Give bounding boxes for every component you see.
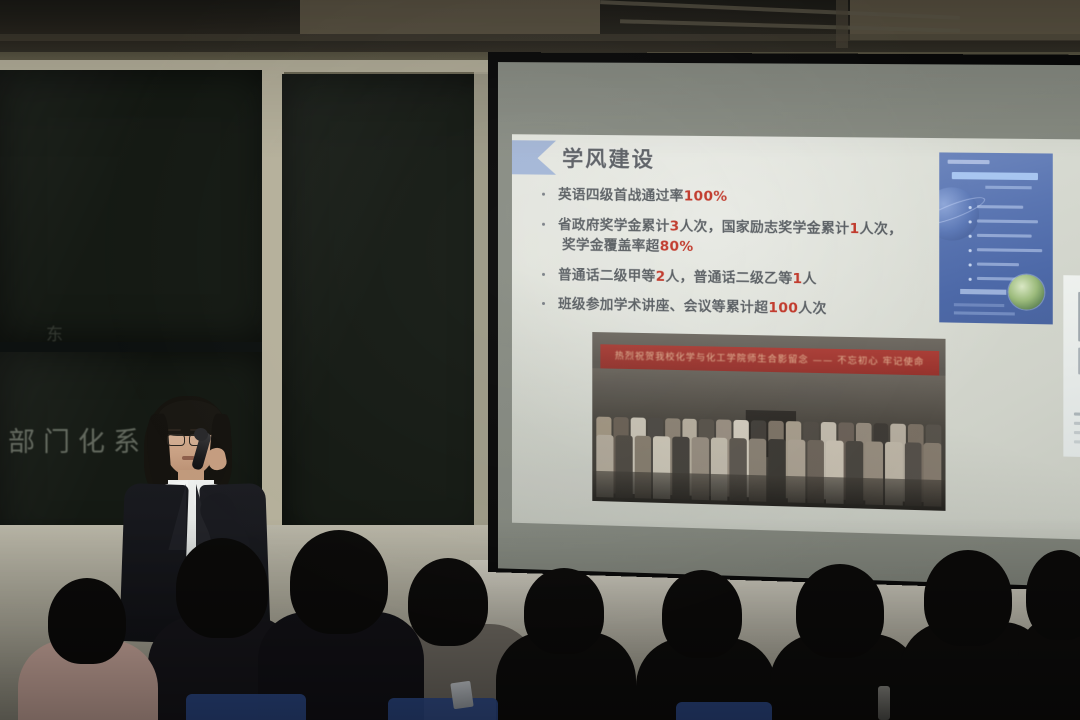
audience-member-head (662, 570, 742, 658)
poster-title-band (952, 172, 1038, 180)
blackboard-panel-right (282, 74, 494, 548)
glasses-icon (167, 434, 185, 446)
bullet-item: 省政府奖学金累计3人次，国家励志奖学金累计1人次， 奖学金覆盖率超80% (536, 214, 904, 261)
bullet-tail-2: 人次， (860, 220, 903, 237)
bullet-tail: 人，普通话二级乙等 (665, 268, 792, 286)
bullet-item: 班级参加学术讲座、会议等累计超100人次 (536, 294, 904, 321)
audience-member-head (1026, 550, 1080, 640)
ceiling-panel (300, 0, 600, 34)
bullet-text: 省政府奖学金累计 (558, 216, 670, 234)
bullet-highlight: 100% (684, 188, 728, 205)
bullet-text: 班级参加学术讲座、会议等累计超 (558, 296, 768, 316)
slide-bullet-list: 英语四级首战通过率100% 省政府奖学金累计3人次，国家励志奖学金累计1人次， … (536, 185, 904, 331)
bullet-highlight: 2 (656, 268, 666, 284)
smartphone[interactable] (450, 681, 473, 710)
audience-member-head (290, 530, 388, 634)
bullet-text: 普通话二级甲等 (558, 267, 656, 285)
photo-backdrop (592, 368, 945, 511)
bullet-tail: 人次，国家励志奖学金累计 (680, 218, 850, 237)
slide-group-photo-image: 热烈祝贺我校化学与化工学院师生合影留念 —— 不忘初心 牢记使命 (592, 332, 945, 511)
audience-member-head (796, 564, 884, 658)
projection-screen: 学风建设 英语四级首战通过率100% 省政府奖学金累计3人次，国家励志奖学金累计… (488, 52, 1080, 592)
slide-poster-ink-image (1063, 275, 1080, 458)
bullet-cont-text: 奖学金覆盖率超 (562, 237, 660, 255)
bullet-continuation: 奖学金覆盖率超80% (558, 235, 904, 261)
audience-member-head (48, 578, 126, 664)
poster-globe-icon (1008, 274, 1044, 310)
bullet-item: 普通话二级甲等2人，普通话二级乙等1人 (536, 264, 904, 291)
water-bottle[interactable] (878, 686, 890, 720)
ceiling-beam (0, 34, 1080, 41)
slide-corner-flag-icon (512, 140, 556, 175)
bullet-item: 英语四级首战通过率100% (536, 185, 904, 210)
audience-member-head (924, 550, 1012, 646)
chair-back[interactable] (186, 694, 306, 720)
bullet-tail: 人次 (798, 300, 826, 317)
blackboard-panel-left (0, 70, 268, 342)
bullet-highlight-2: 1 (849, 220, 859, 236)
slide-poster-blue-image (939, 152, 1053, 324)
audience-group (0, 520, 1080, 720)
blackboard-glare (282, 74, 494, 548)
bullet-highlight: 3 (670, 218, 680, 234)
poster-brand-mark (948, 160, 990, 165)
bullet-highlight: 100 (768, 300, 798, 317)
slide-heading: 学风建设 (562, 143, 655, 174)
audience-member-head (408, 558, 488, 646)
poster-footer-band (960, 289, 1006, 295)
audience-member-head (176, 538, 268, 638)
chair-back[interactable] (676, 702, 772, 720)
chalk-note-secondary: 东 (46, 320, 71, 345)
bullet-text: 英语四级首战通过率 (558, 187, 684, 205)
bullet-tail-2: 人 (802, 271, 816, 288)
screen-surface: 学风建设 英语四级首战通过率100% 省政府奖学金累计3人次，国家励志奖学金累计… (498, 62, 1080, 587)
photo-banner-text: 热烈祝贺我校化学与化工学院师生合影留念 —— 不忘初心 牢记使命 (600, 348, 939, 368)
classroom-photo-scene: 东 部门化系统 学风建设 英语四级首战通过率100% 省政府奖学金累计3人次，国… (0, 0, 1080, 720)
ceiling-post (836, 0, 848, 48)
bullet-highlight-2: 1 (792, 270, 802, 286)
poster-subtitle-band (985, 186, 1031, 190)
bullet-cont-highlight: 80% (660, 239, 694, 256)
chair-back[interactable] (388, 698, 498, 720)
blackboard-glare (0, 70, 268, 342)
slide-content: 学风建设 英语四级首战通过率100% 省政府奖学金累计3人次，国家励志奖学金累计… (512, 134, 1080, 539)
audience-member-head (524, 568, 604, 654)
